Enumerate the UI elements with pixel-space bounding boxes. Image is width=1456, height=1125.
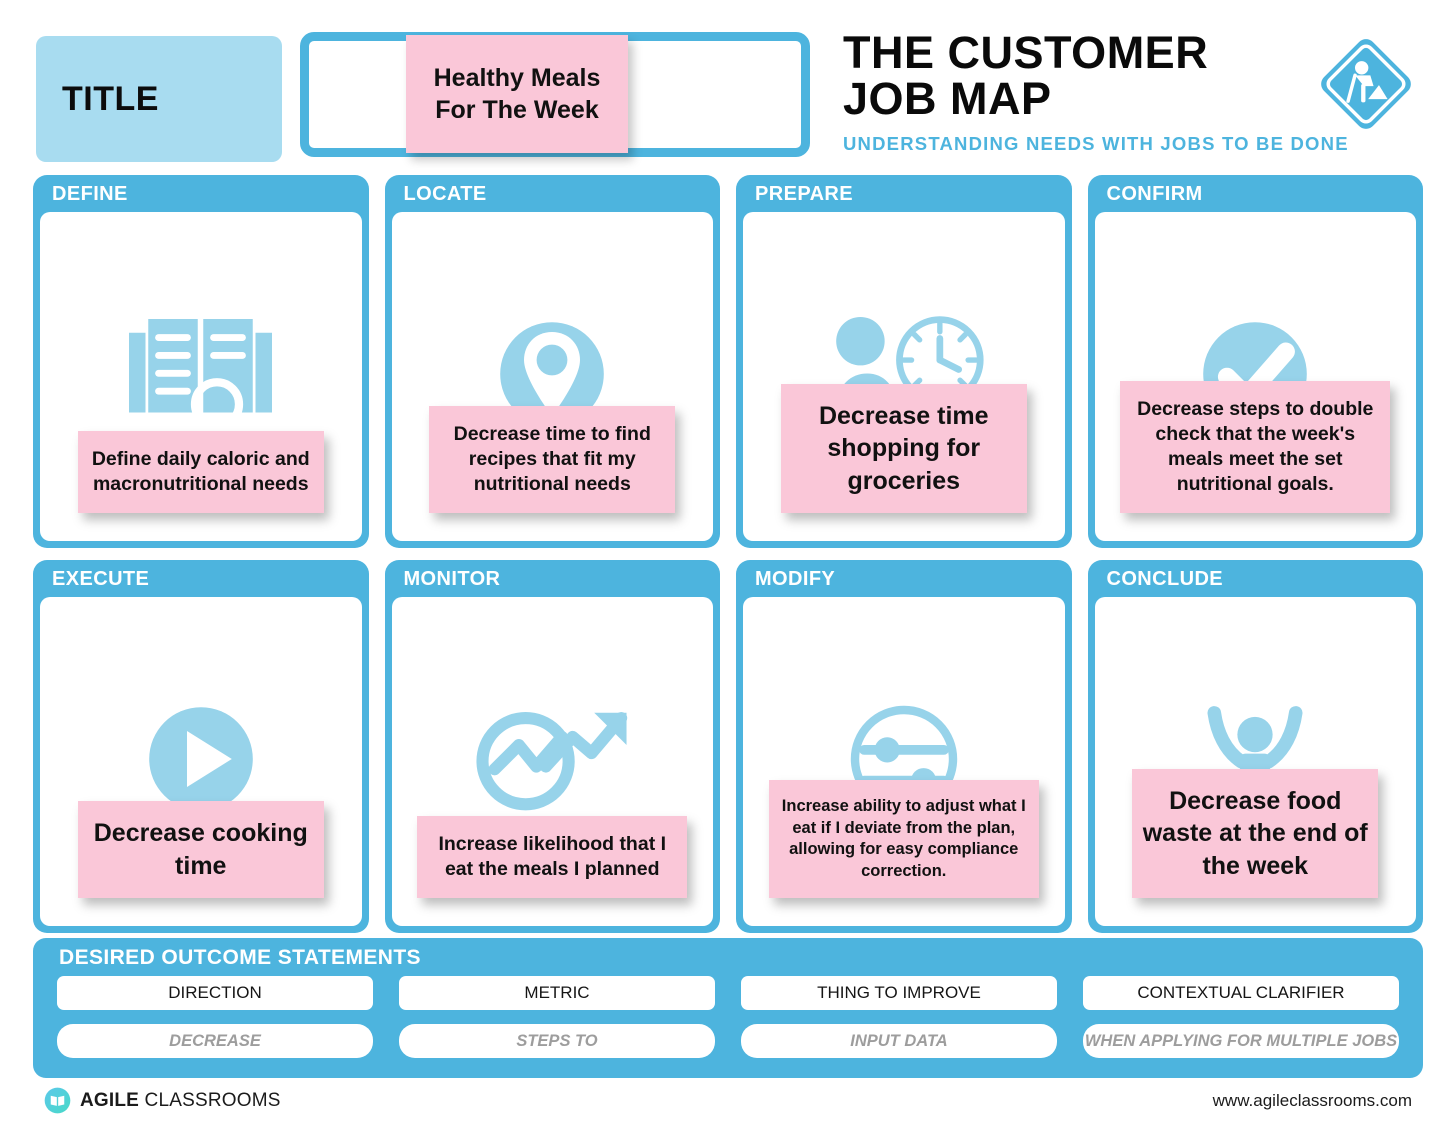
title-chip: TITLE [36, 36, 282, 162]
job-title-sticky-note[interactable]: Healthy Meals For The Week [406, 35, 628, 153]
footer-website-url[interactable]: www.agileclassrooms.com [1213, 1091, 1412, 1111]
stage-label: CONFIRM [1095, 182, 1417, 212]
outcome-note-text: Decrease steps to double check that the … [1128, 397, 1382, 497]
stage-card-confirm[interactable]: CONFIRM Decrease steps to double check t… [1088, 175, 1424, 548]
outcome-sticky-note[interactable]: Decrease cooking time [78, 801, 324, 898]
outcome-column-label[interactable]: CONTEXTUAL CLARIFIER [1083, 976, 1399, 1010]
outcome-column-example[interactable]: INPUT DATA [741, 1024, 1057, 1058]
stage-label: CONCLUDE [1095, 567, 1417, 597]
stage-body: Decrease food waste at the end of the we… [1095, 597, 1417, 926]
stage-card-locate[interactable]: LOCATE Decrease time to find recipes tha… [385, 175, 721, 548]
job-title-text: Healthy Meals For The Week [434, 62, 601, 126]
outcome-column-contextual-clarifier: CONTEXTUAL CLARIFIER WHEN APPLYING FOR M… [1083, 976, 1399, 1058]
outcome-column-thing-to-improve: THING TO IMPROVE INPUT DATA [741, 976, 1057, 1058]
stage-body: Decrease time shopping for groceries [743, 212, 1065, 541]
outcome-sticky-note[interactable]: Increase ability to adjust what I eat if… [769, 780, 1039, 898]
outcome-panel-heading: DESIRED OUTCOME STATEMENTS [57, 946, 1399, 976]
desired-outcome-statements-panel: DESIRED OUTCOME STATEMENTS DIRECTION DEC… [33, 938, 1423, 1078]
outcome-column-label[interactable]: METRIC [399, 976, 715, 1010]
outcome-columns: DIRECTION DECREASE METRIC STEPS TO THING… [57, 976, 1399, 1058]
stage-body: Decrease time to find recipes that fit m… [392, 212, 714, 541]
open-book-icon [106, 299, 296, 449]
trend-chart-icon [457, 684, 647, 834]
stage-body: Increase likelihood that I eat the meals… [392, 597, 714, 926]
outcome-column-example[interactable]: WHEN APPLYING FOR MULTIPLE JOBS [1083, 1024, 1399, 1058]
customer-job-map-poster: TITLE Healthy Meals For The Week THE CUS… [0, 0, 1456, 1125]
outcome-sticky-note[interactable]: Define daily caloric and macronutritiona… [78, 431, 324, 513]
outcome-sticky-note[interactable]: Decrease time to find recipes that fit m… [429, 406, 675, 513]
outcome-sticky-note[interactable]: Increase likelihood that I eat the meals… [417, 816, 687, 898]
stage-label: LOCATE [392, 182, 714, 212]
stage-card-monitor[interactable]: MONITOR Increase likelihood that I eat t… [385, 560, 721, 933]
stage-label: MONITOR [392, 567, 714, 597]
footer-brand-bold: AGILE [80, 1090, 139, 1111]
outcome-sticky-note[interactable]: Decrease steps to double check that the … [1120, 381, 1390, 513]
outcome-column-example[interactable]: DECREASE [57, 1024, 373, 1058]
footer-brand-name: AGILE CLASSROOMS [80, 1090, 281, 1112]
footer-brand-light: CLASSROOMS [139, 1090, 281, 1111]
open-book-circle-logo-icon [44, 1087, 71, 1114]
stage-body: Increase ability to adjust what I eat if… [743, 597, 1065, 926]
outcome-note-text: Define daily caloric and macronutritiona… [86, 447, 316, 497]
outcome-sticky-note[interactable]: Decrease time shopping for groceries [781, 384, 1027, 514]
outcome-note-text: Decrease cooking time [86, 817, 316, 882]
roadwork-sign-icon [1312, 30, 1420, 138]
outcome-note-text: Decrease time shopping for groceries [789, 400, 1019, 498]
stage-body: Decrease steps to double check that the … [1095, 212, 1417, 541]
outcome-note-text: Decrease food waste at the end of the we… [1140, 785, 1370, 883]
stage-label: EXECUTE [40, 567, 362, 597]
outcome-note-text: Increase ability to adjust what I eat if… [777, 796, 1031, 882]
stage-card-conclude[interactable]: CONCLUDE Decrease food waste at the end … [1088, 560, 1424, 933]
outcome-column-metric: METRIC STEPS TO [399, 976, 715, 1058]
poster-header: TITLE Healthy Meals For The Week THE CUS… [0, 0, 1456, 170]
outcome-note-text: Increase likelihood that I eat the meals… [425, 832, 679, 882]
stage-card-modify[interactable]: MODIFY Increase ability to adjust what I… [736, 560, 1072, 933]
stage-label: DEFINE [40, 182, 362, 212]
stage-body: Define daily caloric and macronutritiona… [40, 212, 362, 541]
poster-footer: AGILE CLASSROOMS www.agileclassrooms.com [0, 1085, 1456, 1125]
stage-label: MODIFY [743, 567, 1065, 597]
outcome-column-label[interactable]: THING TO IMPROVE [741, 976, 1057, 1010]
outcome-sticky-note[interactable]: Decrease food waste at the end of the we… [1132, 769, 1378, 899]
job-stage-grid: DEFINE [33, 175, 1423, 933]
outcome-column-example[interactable]: STEPS TO [399, 1024, 715, 1058]
stage-body: Decrease cooking time [40, 597, 362, 926]
stage-card-define[interactable]: DEFINE [33, 175, 369, 548]
stage-label: PREPARE [743, 182, 1065, 212]
stage-card-prepare[interactable]: PREPARE [736, 175, 1072, 548]
footer-brand-block: AGILE CLASSROOMS [44, 1087, 281, 1114]
outcome-column-direction: DIRECTION DECREASE [57, 976, 373, 1058]
outcome-note-text: Decrease time to find recipes that fit m… [437, 422, 667, 497]
title-chip-label: TITLE [36, 80, 159, 119]
stage-card-execute[interactable]: EXECUTE Decrease cooking time [33, 560, 369, 933]
outcome-column-label[interactable]: DIRECTION [57, 976, 373, 1010]
